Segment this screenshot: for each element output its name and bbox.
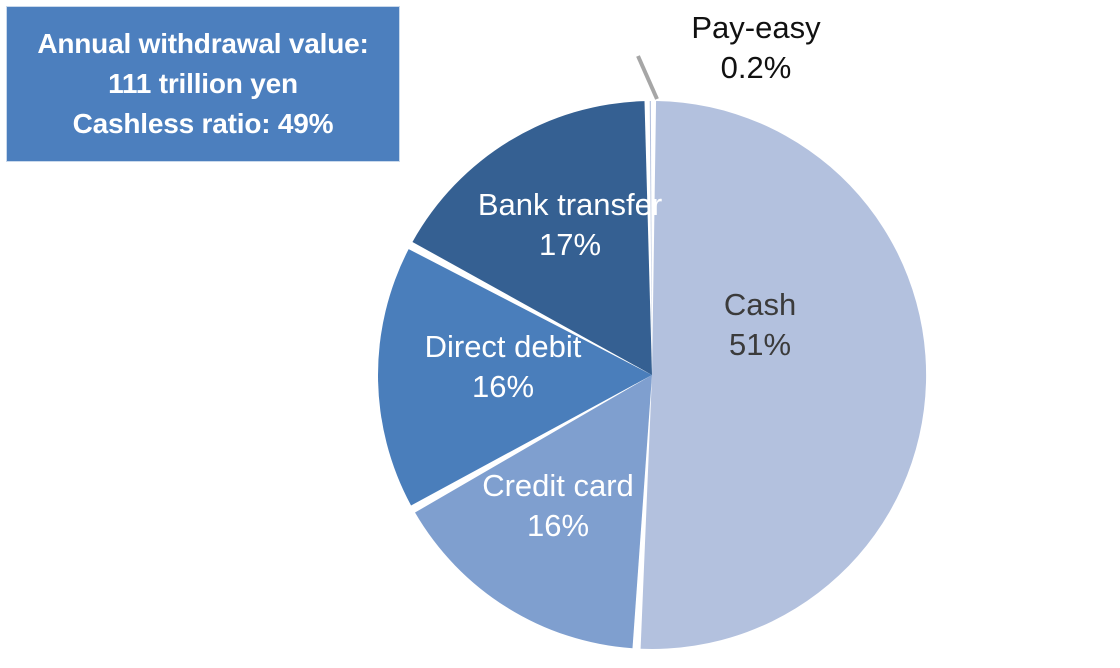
pie-chart-svg bbox=[0, 0, 1120, 668]
pie-slice-cash bbox=[641, 101, 926, 649]
pay-easy-leader-line bbox=[638, 56, 657, 99]
pie-chart: Cash 51% Credit card 16% Direct debit 16… bbox=[0, 0, 1120, 668]
pie-slice-group bbox=[378, 101, 926, 649]
